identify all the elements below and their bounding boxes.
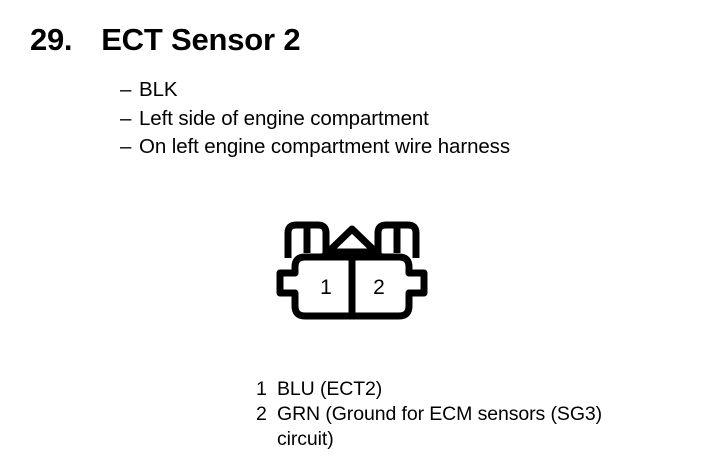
pin-legend-number: 2 [256,402,277,427]
description-list: – BLK – Left side of engine compartment … [120,76,660,162]
description-item-location: – Left side of engine compartment [120,105,660,134]
dash-icon: – [120,76,139,105]
connector-cavity-2-number: 2 [373,276,385,299]
pin-legend-label: GRN (Ground for ECM sensors (SG3) [277,402,602,427]
description-item-label: BLK [139,76,177,105]
pin-legend-row: 2 GRN (Ground for ECM sensors (SG3) [256,402,686,427]
connector-illustration: 1 2 [266,210,462,330]
description-item-wire-color: – BLK [120,76,660,105]
pin-legend-row: 1 BLU (ECT2) [256,377,686,402]
pin-legend-label: BLU (ECT2) [277,377,382,402]
pin-legend: 1 BLU (ECT2) 2 GRN (Ground for ECM senso… [256,377,686,452]
title-number: 29. [30,22,72,58]
page-title: 29. ECT Sensor 2 [30,22,300,58]
pin-legend-continuation-row: circuit) [256,427,686,452]
title-text: ECT Sensor 2 [101,22,300,58]
pin-legend-continuation: circuit) [277,427,334,452]
connector-diagram: 1 2 [266,210,462,330]
dash-icon: – [120,133,139,162]
pin-legend-number: 1 [256,377,277,402]
description-item-harness: – On left engine compartment wire harnes… [120,133,660,162]
dash-icon: – [120,105,139,134]
connector-cavity-1-number: 1 [320,276,332,299]
description-item-label: On left engine compartment wire harness [139,133,510,162]
description-item-label: Left side of engine compartment [139,105,429,134]
